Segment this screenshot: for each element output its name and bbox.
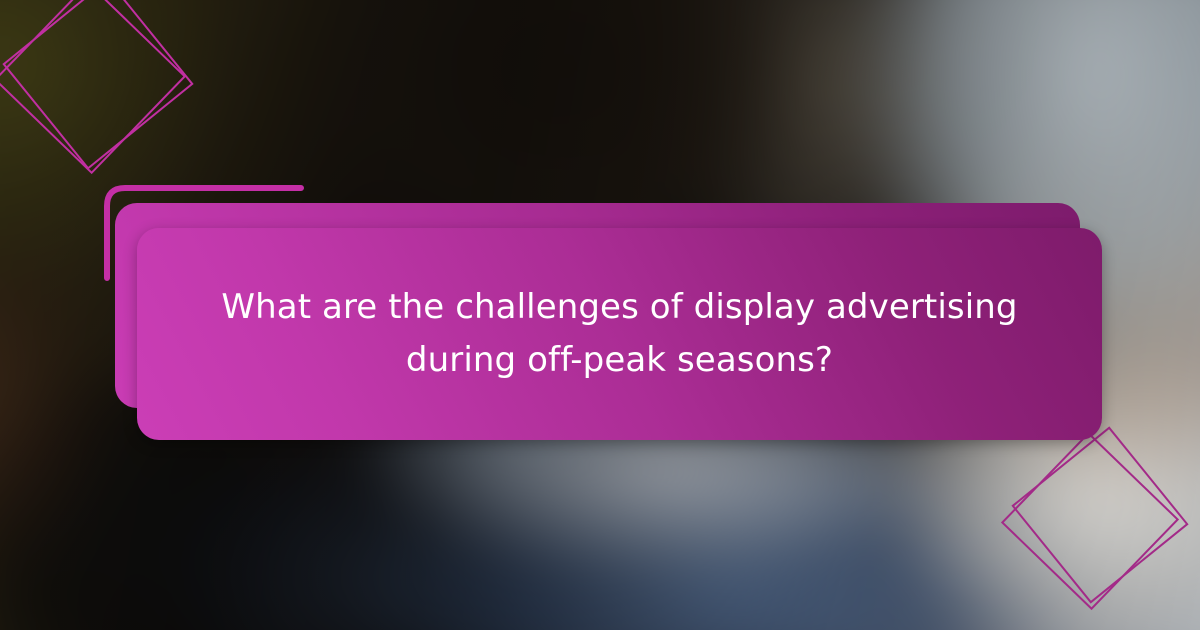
question-card-page: What are the challenges of display adver…	[0, 0, 1200, 630]
question-text: What are the challenges of display adver…	[137, 281, 1102, 386]
rotated-square-outline-icon	[2, 0, 193, 170]
rotated-square-outline-icon	[1011, 426, 1188, 603]
question-card: What are the challenges of display adver…	[137, 228, 1102, 440]
decorative-squares-bottom-right	[985, 418, 1200, 630]
